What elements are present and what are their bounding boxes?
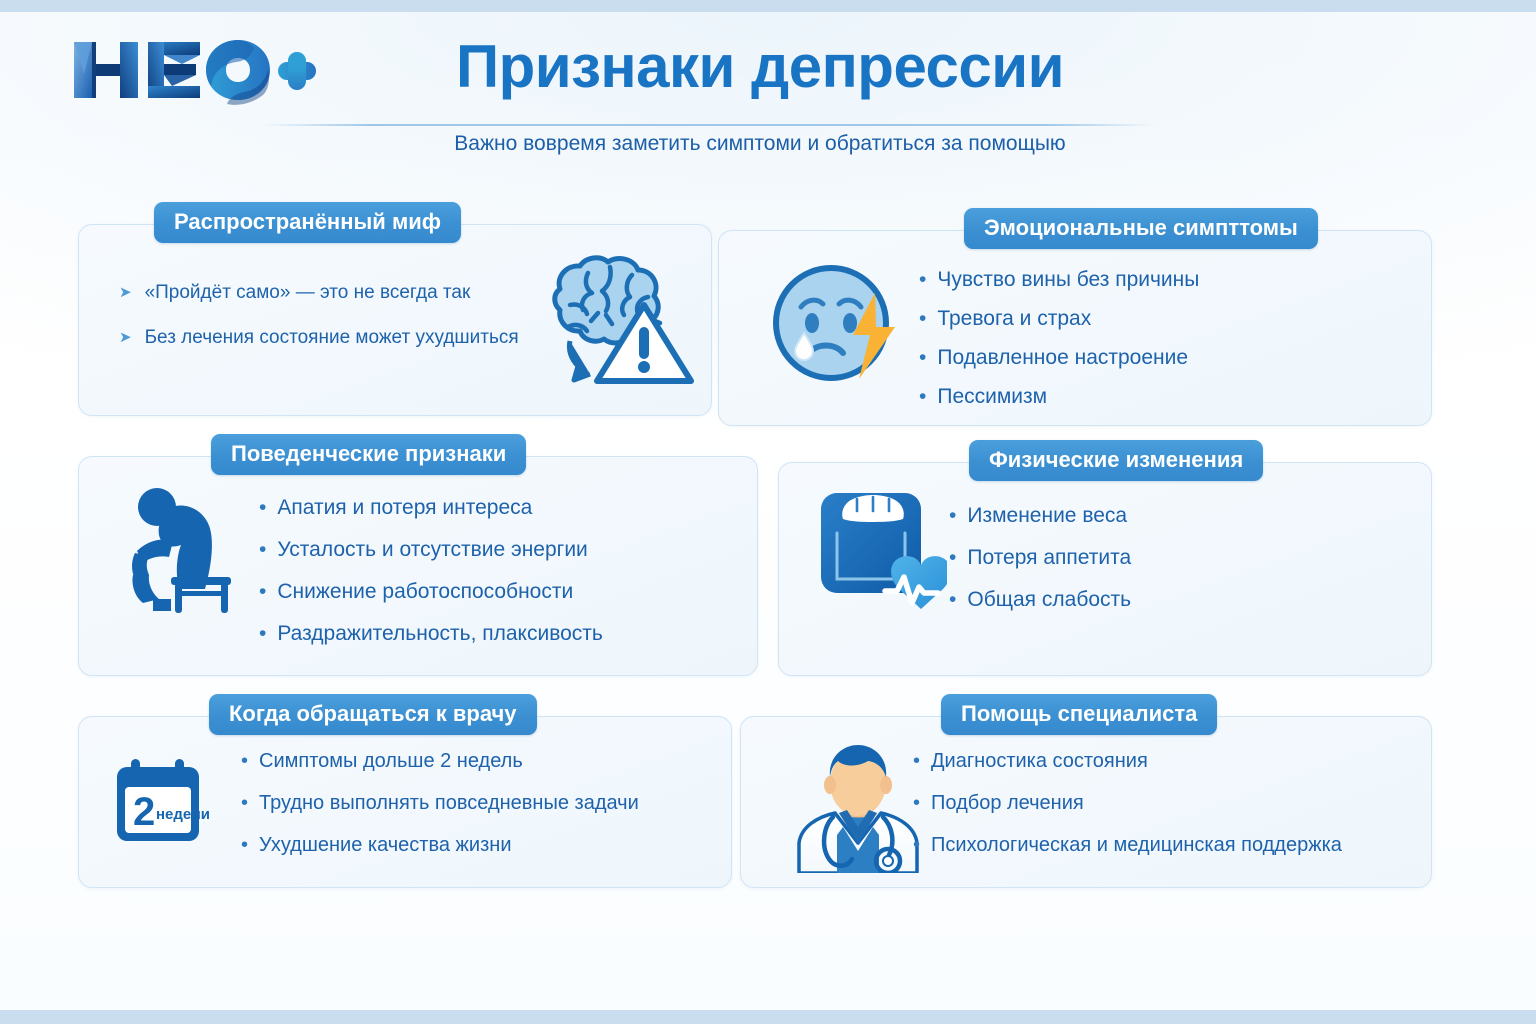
- card-behavioral-title: Поведенческие признаки: [211, 434, 526, 475]
- page-title: Признаки депрессии: [340, 32, 1180, 101]
- bullet-icon: •: [259, 497, 266, 518]
- infographic-poster: Признаки депрессии Важно вовремя заметит…: [0, 0, 1536, 1024]
- list-item: ➤ Без лечения состояние может ухудшиться: [119, 328, 519, 347]
- page-subtitle: Важно вовремя заметить симптоми и обрати…: [340, 132, 1180, 156]
- card-myth-title: Распространённый миф: [154, 202, 461, 243]
- card-myth-list: ➤ «Пройдёт само» — это не всегда так ➤ Б…: [119, 283, 519, 347]
- list-item-label: Диагностика состояния: [931, 751, 1148, 771]
- list-item: • Потеря аппетита: [949, 547, 1131, 568]
- arrow-icon: ➤: [119, 330, 132, 345]
- list-item: • Тревога и страх: [919, 308, 1199, 329]
- sitting-person-icon: [127, 483, 235, 620]
- header-divider: [262, 124, 1154, 126]
- list-item: • Симптомы дольше 2 недель: [241, 751, 639, 771]
- card-when-to-see-doctor: Когда обращаться к врачу 2 недели • Симп…: [78, 716, 732, 888]
- list-item: • Ухудшение качества жизни: [241, 835, 639, 855]
- bullet-icon: •: [949, 505, 956, 526]
- list-item: • Трудно выполнять повседневные задачи: [241, 793, 639, 813]
- bullet-icon: •: [259, 581, 266, 602]
- svg-text:недели: недели: [156, 806, 210, 823]
- list-item-label: Потеря аппетита: [967, 547, 1131, 568]
- list-item: • Снижение работоспособности: [259, 581, 603, 602]
- bullet-icon: •: [913, 751, 920, 771]
- list-item-label: Тревога и страх: [937, 308, 1091, 329]
- list-item-label: Подавленное настроение: [937, 347, 1188, 368]
- list-item-label: Усталость и отсутствие энергии: [277, 539, 587, 560]
- neo-plus-logo: [72, 34, 316, 106]
- bottom-accent-band: [0, 1010, 1536, 1024]
- list-item: • Диагностика состояния: [913, 751, 1342, 771]
- list-item: • Изменение веса: [949, 505, 1131, 526]
- card-when-title: Когда обращаться к врачу: [209, 694, 537, 735]
- sad-face-bolt-icon: [771, 253, 901, 398]
- list-item-label: Трудно выполнять повседневные задачи: [259, 793, 639, 813]
- list-item-label: Чувство вины без причины: [937, 269, 1199, 290]
- list-item: • Подбор лечения: [913, 793, 1342, 813]
- weight-scale-heart-icon: [817, 489, 947, 620]
- card-behavioral: Поведенческие признаки: [78, 456, 758, 676]
- list-item-label: Психологическая и медицинская поддержка: [931, 835, 1342, 855]
- card-specialist-help: Помощь специалиста: [740, 716, 1432, 888]
- bullet-icon: •: [241, 835, 248, 855]
- list-item-label: Общая слабость: [967, 589, 1131, 610]
- card-physical: Физические изменения: [778, 462, 1432, 676]
- list-item-label: Ухудшение качества жизни: [259, 835, 511, 855]
- list-item: • Общая слабость: [949, 589, 1131, 610]
- bullet-icon: •: [913, 835, 920, 855]
- list-item: • Усталость и отсутствие энергии: [259, 539, 603, 560]
- card-physical-title: Физические изменения: [969, 440, 1263, 481]
- bullet-icon: •: [919, 347, 926, 368]
- list-item: • Апатия и потеря интереса: [259, 497, 603, 518]
- card-emotional-list: • Чувство вины без причины • Тревога и с…: [919, 269, 1199, 407]
- list-item-label: Изменение веса: [967, 505, 1127, 526]
- bullet-icon: •: [259, 623, 266, 644]
- card-when-list: • Симптомы дольше 2 недель • Трудно выпо…: [241, 751, 639, 855]
- bullet-icon: •: [913, 793, 920, 813]
- list-item-label: Симптомы дольше 2 недель: [259, 751, 523, 771]
- bullet-icon: •: [259, 539, 266, 560]
- bullet-icon: •: [949, 589, 956, 610]
- list-item-label: Снижение работоспособности: [277, 581, 573, 602]
- doctor-icon: [787, 743, 929, 878]
- list-item: ➤ «Пройдёт само» — это не всегда так: [119, 283, 519, 302]
- svg-text:2: 2: [133, 790, 155, 834]
- list-item-label: Пессимизм: [937, 386, 1047, 407]
- list-item-label: «Пройдёт само» — это не всегда так: [145, 283, 471, 302]
- list-item-label: Без лечения состояние может ухудшиться: [145, 328, 519, 347]
- brain-warning-icon: [524, 253, 694, 390]
- card-myth: Распространённый миф ➤ «Пройдёт само» — …: [78, 224, 712, 416]
- list-item: • Пессимизм: [919, 386, 1199, 407]
- bullet-icon: •: [241, 751, 248, 771]
- top-accent-band: [0, 0, 1536, 12]
- list-item: • Подавленное настроение: [919, 347, 1199, 368]
- list-item: • Психологическая и медицинская поддержк…: [913, 835, 1342, 855]
- bullet-icon: •: [919, 308, 926, 329]
- list-item: • Чувство вины без причины: [919, 269, 1199, 290]
- list-item: • Раздражительность, плаксивость: [259, 623, 603, 644]
- calendar-2-weeks-icon: 2 недели: [109, 757, 219, 854]
- card-help-list: • Диагностика состояния • Подбор лечения…: [913, 751, 1342, 855]
- bullet-icon: •: [949, 547, 956, 568]
- card-emotional: Эмоциональные симпттомы • Чувство вины б…: [718, 230, 1432, 426]
- bullet-icon: •: [919, 386, 926, 407]
- card-physical-list: • Изменение веса • Потеря аппетита • Общ…: [949, 505, 1131, 610]
- card-behavioral-list: • Апатия и потеря интереса • Усталость и…: [259, 497, 603, 644]
- list-item-label: Раздражительность, плаксивость: [277, 623, 603, 644]
- list-item-label: Подбор лечения: [931, 793, 1084, 813]
- card-help-title: Помощь специалиста: [941, 694, 1217, 735]
- card-emotional-title: Эмоциональные симпттомы: [964, 208, 1318, 249]
- bullet-icon: •: [241, 793, 248, 813]
- bullet-icon: •: [919, 269, 926, 290]
- list-item-label: Апатия и потеря интереса: [277, 497, 532, 518]
- arrow-icon: ➤: [119, 285, 132, 300]
